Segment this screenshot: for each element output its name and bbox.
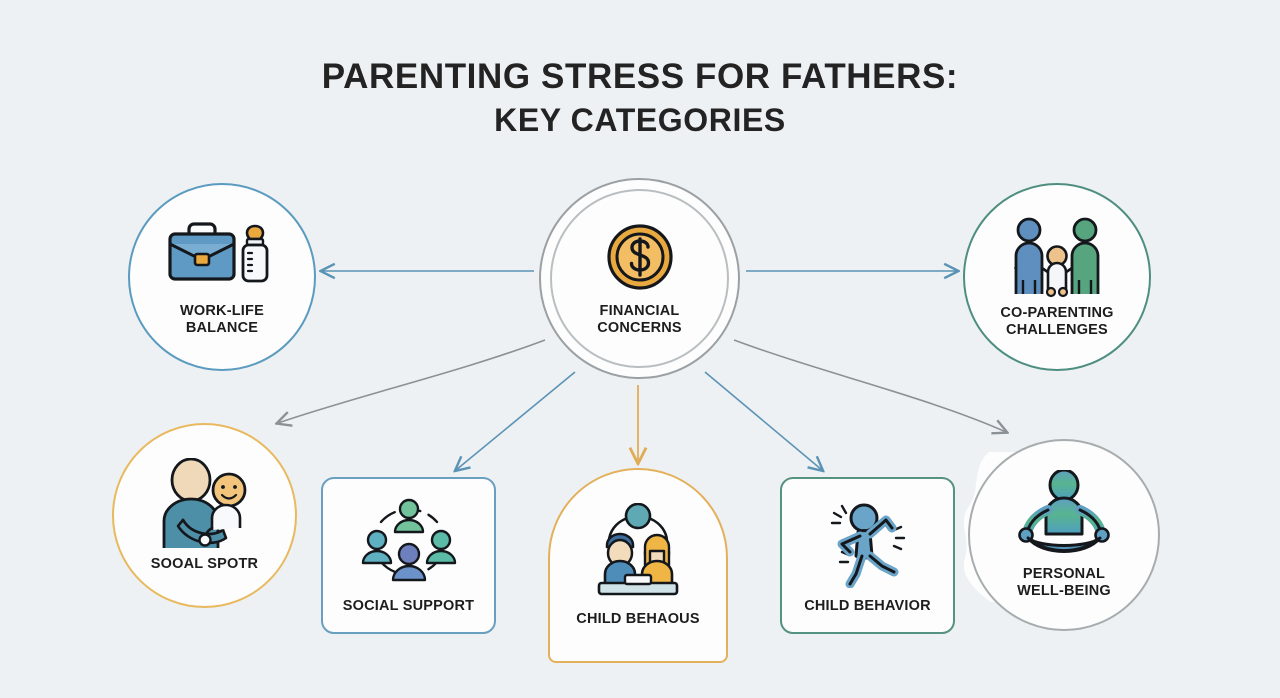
energetic-child-icon: [820, 496, 916, 588]
node-label-line-2: CONCERNS: [597, 320, 682, 337]
node-label-line-1: CHILD BEHAVIOR: [804, 598, 931, 615]
node-label: PERSONAL WELL-BEING: [1017, 566, 1111, 600]
node-label-line-1: FINANCIAL: [597, 303, 682, 320]
node-label: CO-PARENTING CHALLENGES: [1000, 305, 1113, 339]
title-line-1: PARENTING STRESS FOR FATHERS:: [0, 56, 1280, 97]
node-work-life-balance[interactable]: WORK-LIFE BALANCE: [128, 183, 316, 371]
node-label: SOCIAL SUPPORT: [343, 598, 474, 615]
node-label-line-1: CHILD BEHAOUS: [576, 611, 699, 628]
title-line-2: KEY CATEGORIES: [0, 101, 1280, 140]
meditating-person-icon: [1012, 470, 1116, 560]
node-label-line-1: SOOAL SPOTR: [151, 556, 258, 573]
node-financial-concerns[interactable]: FINANCIAL CONCERNS: [539, 178, 740, 379]
node-label: CHILD BEHAVIOR: [804, 598, 931, 615]
node-label-line-2: WELL-BEING: [1017, 583, 1111, 600]
edge-financial-to-social-support: [456, 372, 575, 470]
two-parents-with-baby-icon: [1004, 216, 1110, 298]
node-label: SOOAL SPOTR: [151, 556, 258, 573]
briefcase-and-baby-bottle-icon: [163, 218, 281, 296]
page-title: PARENTING STRESS FOR FATHERS: KEY CATEGO…: [0, 56, 1280, 140]
node-label-line-1: PERSONAL: [1017, 566, 1111, 583]
node-label-line-2: CHALLENGES: [1000, 322, 1113, 339]
node-child-behavior[interactable]: CHILD BEHAVIOR: [780, 477, 955, 634]
edge-financial-to-sooal: [278, 340, 545, 423]
node-personal-well-being[interactable]: PERSONAL WELL-BEING: [968, 439, 1160, 631]
node-label: FINANCIAL CONCERNS: [597, 303, 682, 337]
node-label: CHILD BEHAOUS: [576, 611, 699, 628]
edge-financial-to-well-being: [734, 340, 1006, 432]
node-label: WORK-LIFE BALANCE: [180, 303, 264, 337]
father-holding-baby-icon: [153, 458, 257, 550]
people-network-icon: [359, 496, 459, 588]
edge-financial-to-child-behavior: [705, 372, 822, 470]
node-label-line-1: WORK-LIFE: [180, 303, 264, 320]
node-child-behaous[interactable]: CHILD BEHAOUS: [548, 468, 728, 663]
dollar-coin-icon: [603, 220, 677, 294]
node-sooal-spotr[interactable]: SOOAL SPOTR: [112, 423, 297, 608]
node-co-parenting-challenges[interactable]: CO-PARENTING CHALLENGES: [963, 183, 1151, 371]
node-label-line-2: BALANCE: [180, 320, 264, 337]
node-label-line-1: SOCIAL SUPPORT: [343, 598, 474, 615]
node-label-line-1: CO-PARENTING: [1000, 305, 1113, 322]
couple-at-desk-icon: [585, 503, 691, 599]
node-social-support[interactable]: SOCIAL SUPPORT: [321, 477, 496, 634]
diagram-canvas: PARENTING STRESS FOR FATHERS: KEY CATEGO…: [0, 0, 1280, 698]
